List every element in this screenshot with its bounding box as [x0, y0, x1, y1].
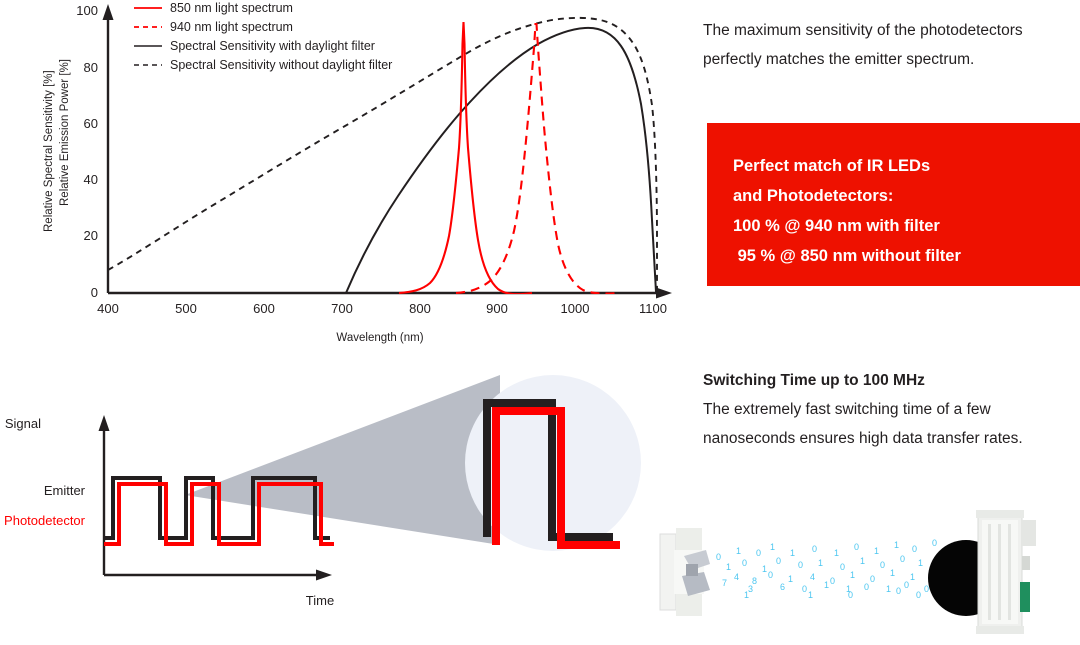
time-axis-label: Time	[306, 593, 334, 608]
page-stage: Relative Spectral Sensitivity [%] Relati…	[0, 0, 1080, 640]
x-tick-600: 600	[253, 301, 275, 316]
svg-text:1: 1	[860, 556, 865, 566]
y-tick-0: 0	[91, 285, 98, 300]
photodetector-label: Photodetector	[4, 513, 86, 528]
svg-text:1: 1	[894, 540, 899, 550]
x-tick-1100: 1100	[639, 301, 667, 316]
x-tick-800: 800	[409, 301, 431, 316]
x-tick-900: 900	[486, 301, 508, 316]
legend-label-without-filter: Spectral Sensitivity without daylight fi…	[170, 58, 392, 72]
switching-time-heading: Switching Time up to 100 MHz	[703, 366, 1063, 395]
svg-text:0: 0	[904, 580, 909, 590]
svg-text:1: 1	[874, 546, 879, 556]
y-tick-20: 20	[84, 228, 98, 243]
x-tick-400: 400	[97, 301, 119, 316]
svg-text:1: 1	[808, 590, 813, 600]
svg-text:0: 0	[742, 558, 747, 568]
svg-text:1: 1	[886, 584, 891, 594]
svg-text:0: 0	[900, 554, 905, 564]
y-axis-label-line2: Relative Emission Power [%]	[59, 59, 71, 206]
signal-timing-diagram: Signal Emitter Photodetector Time	[0, 355, 680, 640]
svg-text:1: 1	[890, 568, 895, 578]
callout-line-1: Perfect match of IR LEDs	[733, 151, 1080, 181]
legend-label-850nm: 850 nm light spectrum	[170, 1, 293, 15]
callout-line-2: and Photodetectors:	[733, 181, 1080, 211]
x-tick-500: 500	[175, 301, 197, 316]
svg-text:0: 0	[798, 560, 803, 570]
x-tick-1000: 1000	[561, 301, 590, 316]
svg-text:1: 1	[770, 542, 775, 552]
svg-text:0: 0	[848, 590, 853, 600]
svg-text:0: 0	[716, 552, 721, 562]
svg-text:1: 1	[762, 564, 767, 574]
spectral-sensitivity-chart: Relative Spectral Sensitivity [%] Relati…	[0, 0, 690, 355]
svg-text:0: 0	[840, 562, 845, 572]
svg-text:4: 4	[734, 572, 739, 582]
product-photo-svg: 017 104 301 810 061 010 014 110 010 110 …	[648, 498, 1080, 640]
svg-text:4: 4	[810, 572, 815, 582]
svg-text:7: 7	[722, 578, 727, 588]
svg-text:1: 1	[726, 562, 731, 572]
svg-text:1: 1	[824, 580, 829, 590]
signal-diagram-svg: Signal Emitter Photodetector Time	[0, 355, 680, 640]
svg-text:1: 1	[918, 558, 923, 568]
svg-text:0: 0	[880, 560, 885, 570]
callout-box: Perfect match of IR LEDs and Photodetect…	[707, 123, 1080, 286]
svg-text:0: 0	[870, 574, 875, 584]
emitter-module-photo	[660, 528, 710, 616]
y-tick-60: 60	[84, 116, 98, 131]
svg-text:0: 0	[854, 542, 859, 552]
svg-text:1: 1	[910, 572, 915, 582]
svg-text:1: 1	[736, 546, 741, 556]
svg-text:0: 0	[830, 576, 835, 586]
y-axis-label-line1: Relative Spectral Sensitivity [%]	[43, 70, 55, 232]
svg-text:1: 1	[788, 574, 793, 584]
intro-paragraph: The maximum sensitivity of the photodete…	[703, 16, 1063, 74]
svg-text:1: 1	[790, 548, 795, 558]
y-tick-80: 80	[84, 60, 98, 75]
legend-label-940nm: 940 nm light spectrum	[170, 20, 293, 34]
chart-legend: 850 nm light spectrum 940 nm light spect…	[134, 1, 392, 72]
callout-line-3: 100 % @ 940 nm with filter	[733, 211, 1080, 241]
svg-text:1: 1	[850, 570, 855, 580]
svg-text:0: 0	[916, 590, 921, 600]
callout-line-4: 95 % @ 850 nm without filter	[733, 241, 1080, 271]
x-axis-ticks: 400 500 600 700 800 900 1000 1100	[97, 301, 667, 316]
emitter-label: Emitter	[44, 483, 86, 498]
y-tick-40: 40	[84, 172, 98, 187]
y-tick-100: 100	[76, 3, 98, 18]
data-stream: 017 104 301 810 061 010 014 110 010 110 …	[716, 538, 949, 600]
svg-text:0: 0	[768, 570, 773, 580]
svg-text:0: 0	[912, 544, 917, 554]
switching-time-body: The extremely fast switching time of a f…	[703, 395, 1063, 453]
svg-text:1: 1	[818, 558, 823, 568]
x-axis-label: Wavelength (nm)	[336, 332, 423, 344]
svg-text:6: 6	[780, 582, 785, 592]
magnifier-cone	[185, 375, 500, 545]
chart-svg: Relative Spectral Sensitivity [%] Relati…	[0, 0, 690, 355]
legend-label-with-filter: Spectral Sensitivity with daylight filte…	[170, 39, 375, 53]
detector-module-photo	[976, 510, 1036, 634]
svg-text:0: 0	[776, 556, 781, 566]
svg-text:0: 0	[812, 544, 817, 554]
svg-text:0: 0	[924, 584, 929, 594]
switching-time-block: Switching Time up to 100 MHz The extreme…	[703, 366, 1063, 453]
svg-text:0: 0	[864, 582, 869, 592]
svg-text:0: 0	[802, 584, 807, 594]
svg-text:0: 0	[756, 548, 761, 558]
svg-text:1: 1	[834, 548, 839, 558]
curve-sensitivity-with-filter	[346, 28, 656, 293]
svg-text:0: 0	[932, 538, 937, 548]
svg-text:1: 1	[744, 590, 749, 600]
svg-text:8: 8	[752, 576, 757, 586]
signal-axis-label: Signal	[5, 416, 41, 431]
product-photo: 017 104 301 810 061 010 014 110 010 110 …	[648, 498, 1080, 640]
y-axis-ticks: 100 80 60 40 20 0	[76, 3, 98, 300]
svg-text:0: 0	[896, 586, 901, 596]
x-tick-700: 700	[331, 301, 353, 316]
